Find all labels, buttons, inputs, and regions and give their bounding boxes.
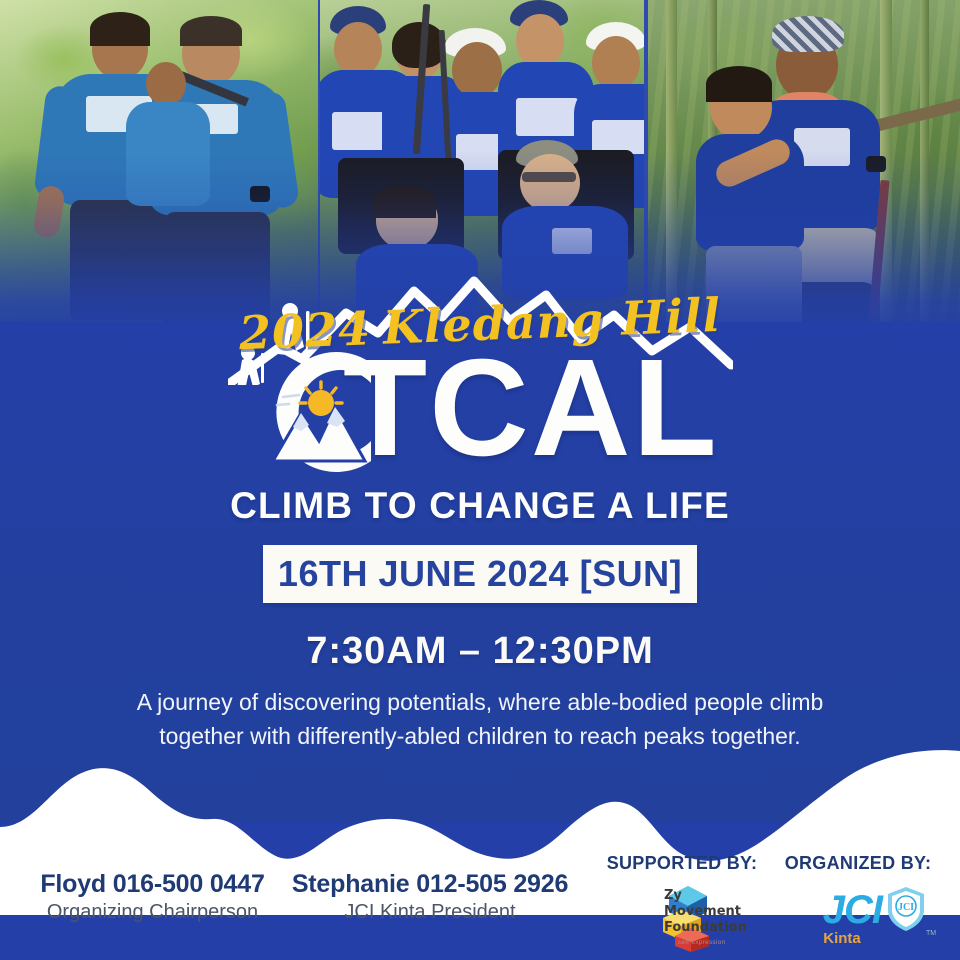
organized-by-heading: ORGANIZED BY:	[768, 853, 948, 874]
acronym-wordmark: CTCAL	[0, 339, 960, 477]
zy-line-1: Zy	[664, 888, 747, 904]
organized-by-block: ORGANIZED BY: JCI JCI Kinta TM	[768, 853, 948, 958]
acronym-letter-l: L	[633, 331, 719, 485]
zy-line-3: Foundation	[664, 920, 747, 936]
acronym-letter-a: A	[531, 331, 633, 485]
event-date: 16TH JUNE 2024 [SUN]	[278, 553, 682, 595]
zy-wordmark: Zy Movement Foundation	[664, 888, 747, 936]
acronym-letter-c2: C	[429, 331, 531, 485]
svg-text:JCI: JCI	[898, 902, 914, 913]
contact-role: JCI Kinta President	[285, 901, 575, 924]
event-date-box: 16TH JUNE 2024 [SUN]	[263, 545, 697, 603]
sponsor-list: SUPPORTED BY:	[596, 853, 960, 958]
jci-chapter: Kinta	[794, 930, 890, 947]
supported-by-heading: SUPPORTED BY:	[596, 853, 768, 874]
logo-block: 2024Kledang Hill CTCAL CLIMB TO	[0, 255, 960, 535]
contact-item: Stephanie 012-505 2926 JCI Kinta Preside…	[285, 870, 575, 924]
supported-by-block: SUPPORTED BY:	[596, 853, 768, 958]
poster-footer: Floyd 016-500 0447 Organizing Chairperso…	[0, 845, 960, 960]
contact-item: Floyd 016-500 0447 Organizing Chairperso…	[20, 870, 285, 924]
contact-role: Organizing Chairperson	[20, 901, 285, 924]
event-tagline: CLIMB TO CHANGE A LIFE	[0, 485, 960, 527]
zy-movement-foundation-logo: Zy Movement Foundation self expression	[608, 884, 768, 956]
jci-shield-icon: JCI	[886, 886, 926, 932]
jci-kinta-logo: JCI JCI Kinta TM	[786, 886, 936, 956]
contact-list: Floyd 016-500 0447 Organizing Chairperso…	[20, 870, 580, 924]
jci-trademark: TM	[926, 930, 936, 937]
mountain-sun-emblem-icon	[243, 341, 393, 483]
event-poster: 2024Kledang Hill CTCAL CLIMB TO	[0, 0, 960, 960]
contact-name: Stephanie 012-505 2926	[285, 870, 575, 899]
contact-name: Floyd 016-500 0447	[20, 870, 285, 899]
jci-wordmark: JCI	[786, 888, 882, 933]
zy-line-2: Movement	[664, 904, 747, 920]
zy-tagline: self expression	[678, 940, 726, 946]
event-time: 7:30AM – 12:30PM	[0, 630, 960, 673]
